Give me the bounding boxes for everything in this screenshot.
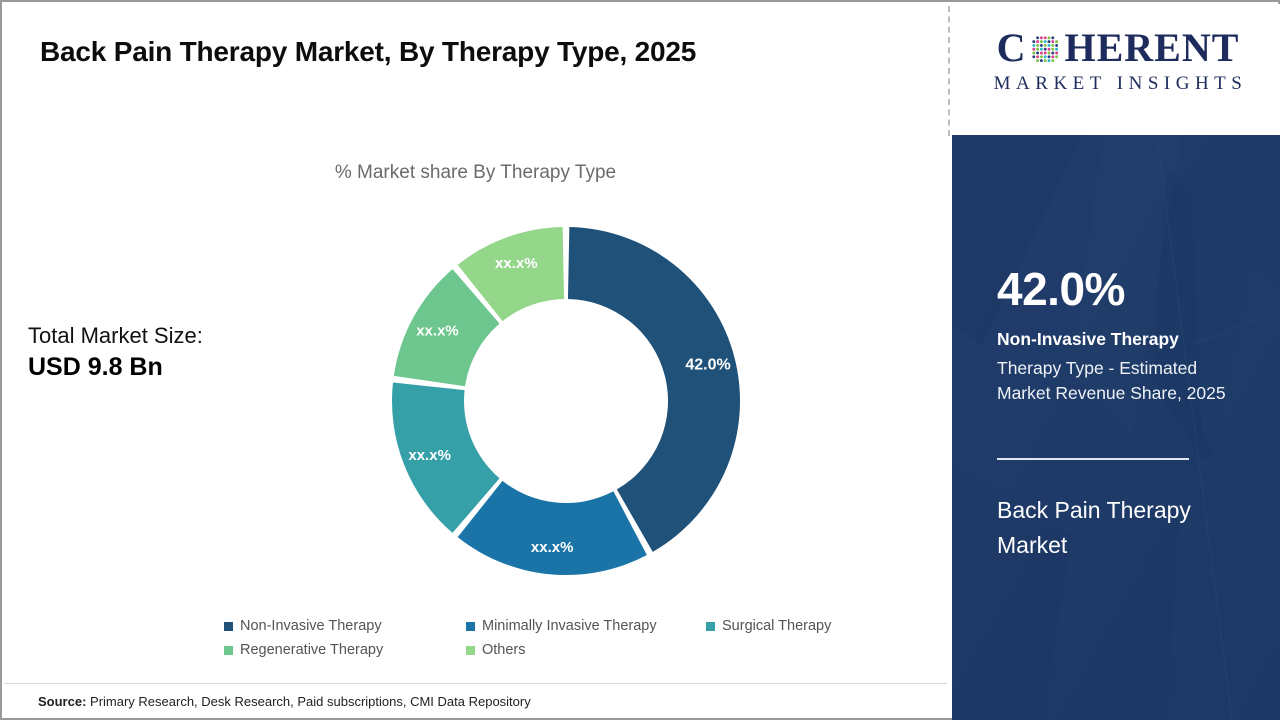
globe-dots-icon — [1027, 31, 1063, 67]
chart-legend: Non-Invasive Therapy Minimally Invasive … — [224, 618, 844, 666]
highlight-description: Therapy Type - Estimated Market Revenue … — [997, 356, 1252, 407]
donut-slice-label: xx.x% — [416, 322, 459, 339]
source-label: Source: — [38, 694, 86, 709]
source-note: Source: Primary Research, Desk Research,… — [38, 694, 531, 709]
highlight-panel-content: 42.0% Non-Invasive Therapy Therapy Type … — [952, 135, 1280, 720]
brand-logo: C HERENT MARKET INSIGHTS — [968, 28, 1268, 95]
legend-row-1: Non-Invasive Therapy Minimally Invasive … — [224, 618, 844, 634]
legend-label: Minimally Invasive Therapy — [482, 618, 657, 634]
donut-chart-svg: 42.0%xx.x%xx.x%xx.x%xx.x% — [385, 220, 747, 582]
donut-slice-label: xx.x% — [408, 447, 451, 464]
legend-swatch-icon — [224, 622, 233, 631]
legend-label: Non-Invasive Therapy — [240, 618, 382, 634]
donut-chart: 42.0%xx.x%xx.x%xx.x%xx.x% — [385, 220, 747, 582]
brand-tagline: MARKET INSIGHTS — [968, 73, 1268, 95]
legend-label: Regenerative Therapy — [240, 642, 383, 658]
legend-swatch-icon — [466, 622, 475, 631]
page-title: Back Pain Therapy Market, By Therapy Typ… — [40, 32, 870, 71]
footer-divider — [4, 683, 947, 684]
legend-label: Others — [482, 642, 526, 658]
highlight-market-name: Back Pain Therapy Market — [997, 493, 1197, 563]
highlight-panel: 42.0% Non-Invasive Therapy Therapy Type … — [952, 135, 1280, 720]
highlight-divider — [997, 458, 1189, 460]
donut-slice — [458, 481, 647, 575]
legend-swatch-icon — [224, 646, 233, 655]
legend-swatch-icon — [466, 646, 475, 655]
source-text: Primary Research, Desk Research, Paid su… — [86, 694, 530, 709]
legend-item-others[interactable]: Others — [466, 642, 696, 658]
highlight-percent: 42.0% — [997, 266, 1125, 312]
legend-label: Surgical Therapy — [722, 618, 831, 634]
legend-item-surgical-therapy[interactable]: Surgical Therapy — [706, 618, 831, 634]
vertical-dashed-divider — [948, 6, 950, 136]
total-market-size-block: Total Market Size: USD 9.8 Bn — [28, 322, 328, 383]
brand-name-part1: C — [997, 28, 1027, 68]
legend-swatch-icon — [706, 622, 715, 631]
total-market-size-label: Total Market Size: — [28, 322, 328, 351]
donut-slice-label: xx.x% — [531, 539, 574, 556]
legend-row-2: Regenerative Therapy Others — [224, 642, 844, 658]
legend-item-minimally-invasive-therapy[interactable]: Minimally Invasive Therapy — [466, 618, 696, 634]
highlight-segment-name: Non-Invasive Therapy — [997, 329, 1247, 351]
brand-wordmark: C HERENT — [968, 28, 1268, 68]
main-content-area: Back Pain Therapy Market, By Therapy Typ… — [2, 2, 949, 718]
total-market-size-value: USD 9.8 Bn — [28, 351, 328, 384]
brand-name-part2: HERENT — [1064, 28, 1239, 68]
legend-item-regenerative-therapy[interactable]: Regenerative Therapy — [224, 642, 456, 658]
brand-logo-box: C HERENT MARKET INSIGHTS — [952, 4, 1280, 135]
donut-slice-label: 42.0% — [685, 357, 730, 374]
chart-subtitle: % Market share By Therapy Type — [2, 162, 949, 184]
infographic-canvas: Back Pain Therapy Market, By Therapy Typ… — [0, 0, 1280, 720]
legend-item-non-invasive-therapy[interactable]: Non-Invasive Therapy — [224, 618, 456, 634]
right-sidebar: C HERENT MARKET INSIGHTS — [952, 4, 1280, 720]
donut-slice-label: xx.x% — [495, 255, 538, 272]
